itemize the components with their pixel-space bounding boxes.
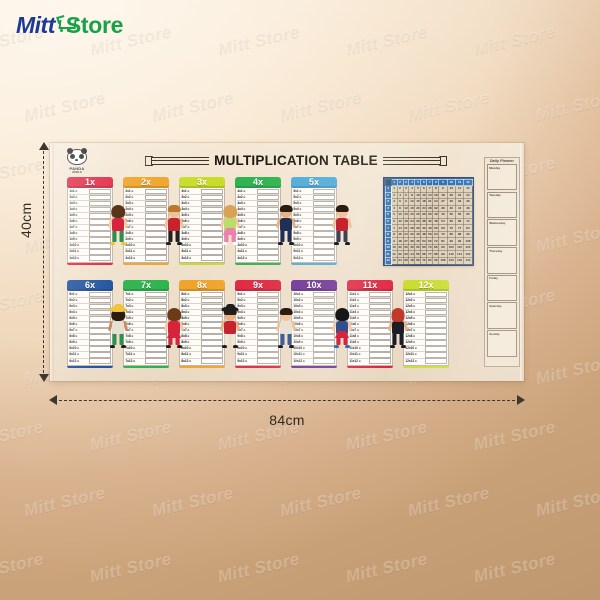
- equation-label: 5x9 =: [293, 237, 312, 242]
- equation-label: 9x12 =: [237, 359, 256, 364]
- equation-label: 1x4 =: [69, 207, 88, 212]
- blank-answer-box[interactable]: [425, 328, 446, 334]
- blank-answer-box[interactable]: [313, 352, 334, 358]
- planner-day-slot[interactable]: Tuesday: [487, 192, 517, 219]
- blank-answer-box[interactable]: [89, 249, 110, 255]
- equation-label: 6x9 =: [69, 340, 88, 345]
- blank-answer-box[interactable]: [145, 298, 166, 304]
- table-row: 1x12 =: [69, 256, 110, 261]
- equation-label: 1x8 =: [69, 231, 88, 236]
- equation-label: 11x3 =: [349, 304, 368, 309]
- equation-label: 3x6 =: [181, 219, 200, 224]
- equation-label: 5x3 =: [293, 201, 312, 206]
- equation-label: 10x4 =: [293, 310, 312, 315]
- equation-label: 4x1 =: [237, 189, 256, 194]
- planner-day-label: Sunday: [489, 332, 499, 336]
- planner-day-label: Saturday: [489, 304, 501, 308]
- equation-label: 11x9 =: [349, 340, 368, 345]
- equation-label: 3x2 =: [181, 195, 200, 200]
- equation-label: 7x3 =: [125, 304, 144, 309]
- blank-answer-box[interactable]: [257, 189, 278, 195]
- blank-answer-box[interactable]: [89, 195, 110, 201]
- table-row: 9x12 =: [237, 359, 278, 364]
- equation-label: 7x5 =: [125, 316, 144, 321]
- blank-answer-box[interactable]: [369, 292, 390, 298]
- equation-label: 12x11 =: [405, 352, 424, 357]
- blank-answer-box[interactable]: [89, 298, 110, 304]
- table-header-9: 9x: [235, 280, 281, 291]
- equation-label: 1x7 =: [69, 225, 88, 230]
- blank-answer-box[interactable]: [145, 195, 166, 201]
- equation-label: 9x7 =: [237, 328, 256, 333]
- equation-label: 8x4 =: [181, 310, 200, 315]
- equation-label: 5x11 =: [293, 249, 312, 254]
- table-header-7: 7x: [123, 280, 169, 291]
- table-footer: [291, 366, 337, 368]
- planner-day-slot[interactable]: Monday: [487, 164, 517, 191]
- equation-label: 2x12 =: [125, 256, 144, 261]
- times-table-12[interactable]: 12x12x1 =12x2 =12x3 =12x4 =12x5 =12x6 =1…: [403, 280, 449, 368]
- equation-label: 5x10 =: [293, 243, 312, 248]
- blank-answer-box[interactable]: [425, 358, 446, 364]
- width-dimension-line: 84cm: [50, 400, 524, 402]
- equation-label: 9x5 =: [237, 316, 256, 321]
- equation-label: 6x5 =: [69, 316, 88, 321]
- table-header-2: 2x: [123, 177, 169, 188]
- table-row: 8x12 =: [181, 359, 222, 364]
- table-header-6: 6x: [67, 280, 113, 291]
- equation-label: 8x7 =: [181, 328, 200, 333]
- equation-label: 8x9 =: [181, 340, 200, 345]
- equation-label: 5x2 =: [293, 195, 312, 200]
- blank-answer-box[interactable]: [257, 298, 278, 304]
- equation-label: 11x6 =: [349, 322, 368, 327]
- equation-label: 2x6 =: [125, 219, 144, 224]
- blank-answer-box[interactable]: [425, 322, 446, 328]
- table-footer: [235, 263, 281, 265]
- brand-name-mitt: Mitt: [16, 12, 55, 39]
- equation-label: 3x11 =: [181, 249, 200, 254]
- blank-answer-box[interactable]: [145, 352, 166, 358]
- equation-label: 11x4 =: [349, 310, 368, 315]
- equation-label: 4x6 =: [237, 219, 256, 224]
- planner-day-label: Thursday: [489, 249, 502, 253]
- table-header-11: 11x: [347, 280, 393, 291]
- equation-label: 8x5 =: [181, 316, 200, 321]
- equation-label: 10x9 =: [293, 340, 312, 345]
- equation-label: 11x1 =: [349, 292, 368, 297]
- equation-label: 7x6 =: [125, 322, 144, 327]
- equation-label: 2x1 =: [125, 189, 144, 194]
- blank-answer-box[interactable]: [201, 298, 222, 304]
- equation-label: 9x8 =: [237, 334, 256, 339]
- blank-answer-box[interactable]: [313, 255, 334, 261]
- equation-label: 10x8 =: [293, 334, 312, 339]
- shopping-cart-icon: [57, 16, 74, 32]
- blank-answer-box[interactable]: [89, 352, 110, 358]
- equation-label: 12x9 =: [405, 340, 424, 345]
- equation-label: 4x3 =: [237, 201, 256, 206]
- equation-label: 8x6 =: [181, 322, 200, 327]
- grid-cell: 120: [447, 257, 455, 264]
- equation-label: 1x6 =: [69, 219, 88, 224]
- table-row: 11x12 =: [349, 359, 390, 364]
- equation-label: 3x8 =: [181, 231, 200, 236]
- equation-label: 12x5 =: [405, 316, 424, 321]
- equation-label: 6x6 =: [69, 322, 88, 327]
- equation-label: 8x8 =: [181, 334, 200, 339]
- blank-answer-box[interactable]: [201, 292, 222, 298]
- blank-answer-box[interactable]: [201, 249, 222, 255]
- planner-day-slot[interactable]: Wednesday: [487, 219, 517, 246]
- blank-answer-box[interactable]: [145, 249, 166, 255]
- equation-label: 2x3 =: [125, 201, 144, 206]
- blank-answer-box[interactable]: [313, 189, 334, 195]
- blank-answer-box[interactable]: [201, 195, 222, 201]
- equation-label: 2x10 =: [125, 243, 144, 248]
- blank-answer-box[interactable]: [257, 249, 278, 255]
- equation-label: 1x11 =: [69, 249, 88, 254]
- equation-label: 8x10 =: [181, 346, 200, 351]
- equation-label: 11x7 =: [349, 328, 368, 333]
- equation-label: 7x10 =: [125, 346, 144, 351]
- height-dimension-line: [43, 143, 45, 381]
- equation-label: 12x10 =: [405, 346, 424, 351]
- equation-label: 12x7 =: [405, 328, 424, 333]
- blank-answer-box[interactable]: [201, 358, 222, 364]
- equation-label: 12x12 =: [405, 359, 424, 364]
- equation-label: 10x11 =: [293, 352, 312, 357]
- equation-label: 4x8 =: [237, 231, 256, 236]
- blank-answer-box[interactable]: [369, 352, 390, 358]
- table-row: 2x12 =: [125, 256, 166, 261]
- equation-label: 1x1 =: [69, 189, 88, 194]
- equation-label: 3x1 =: [181, 189, 200, 194]
- equation-label: 5x1 =: [293, 189, 312, 194]
- equation-label: 10x6 =: [293, 322, 312, 327]
- blank-answer-box[interactable]: [89, 292, 110, 298]
- kid-illustration: [331, 205, 353, 249]
- blank-answer-box[interactable]: [145, 189, 166, 195]
- planner-day-label: Tuesday: [489, 193, 501, 197]
- planner-day-slot[interactable]: Thursday: [487, 247, 517, 274]
- equation-label: 1x2 =: [69, 195, 88, 200]
- equation-label: 8x11 =: [181, 352, 200, 357]
- blank-answer-box[interactable]: [201, 352, 222, 358]
- multiplication-grid-12x12: 1234567891011121123456789101112224681012…: [383, 177, 474, 266]
- blank-answer-box[interactable]: [313, 249, 334, 255]
- table-footer: [67, 366, 113, 368]
- blank-answer-box[interactable]: [369, 358, 390, 364]
- equation-label: 5x5 =: [293, 213, 312, 218]
- equation-label: 3x7 =: [181, 225, 200, 230]
- equation-label: 2x2 =: [125, 195, 144, 200]
- equation-label: 7x11 =: [125, 352, 144, 357]
- equation-label: 3x10 =: [181, 243, 200, 248]
- equation-label: 8x12 =: [181, 359, 200, 364]
- blank-answer-box[interactable]: [313, 292, 334, 298]
- equation-label: 7x1 =: [125, 292, 144, 297]
- table-footer: [123, 366, 169, 368]
- equation-label: 10x3 =: [293, 304, 312, 309]
- equation-label: 11x10 =: [349, 346, 368, 351]
- equation-label: 7x12 =: [125, 359, 144, 364]
- table-row: 7x12 =: [125, 359, 166, 364]
- equation-label: 2x8 =: [125, 231, 144, 236]
- blank-answer-box[interactable]: [145, 255, 166, 261]
- equation-label: 1x9 =: [69, 237, 88, 242]
- equation-label: 3x12 =: [181, 256, 200, 261]
- daily-planner[interactable]: Daily Planner MondayTuesdayWednesdayThur…: [484, 157, 520, 367]
- table-footer: [403, 366, 449, 368]
- table-row: 10x12 =: [293, 359, 334, 364]
- table-header-10: 10x: [291, 280, 337, 291]
- equation-label: 12x2 =: [405, 298, 424, 303]
- table-row: 5x12 =: [293, 256, 334, 261]
- equation-label: 6x12 =: [69, 359, 88, 364]
- equation-label: 4x10 =: [237, 243, 256, 248]
- blank-answer-box[interactable]: [425, 304, 446, 310]
- planner-day-slot[interactable]: Sunday: [487, 330, 517, 357]
- equation-label: 3x3 =: [181, 201, 200, 206]
- equation-label: 7x2 =: [125, 298, 144, 303]
- equation-label: 2x9 =: [125, 237, 144, 242]
- blank-answer-box[interactable]: [257, 195, 278, 201]
- equation-label: 11x8 =: [349, 334, 368, 339]
- equation-label: 6x1 =: [69, 292, 88, 297]
- equation-label: 4x4 =: [237, 207, 256, 212]
- blank-answer-box[interactable]: [369, 298, 390, 304]
- equation-label: 6x11 =: [69, 352, 88, 357]
- equation-label: 9x2 =: [237, 298, 256, 303]
- equation-label: 3x9 =: [181, 237, 200, 242]
- equation-label: 1x3 =: [69, 201, 88, 206]
- equation-label: 12x1 =: [405, 292, 424, 297]
- width-dimension-label: 84cm: [50, 412, 524, 428]
- table-header-1: 1x: [67, 177, 113, 188]
- blank-answer-box[interactable]: [313, 358, 334, 364]
- blank-answer-box[interactable]: [313, 298, 334, 304]
- equation-label: 10x7 =: [293, 328, 312, 333]
- equation-label: 11x5 =: [349, 316, 368, 321]
- equation-label: 10x2 =: [293, 298, 312, 303]
- table-footer: [291, 263, 337, 265]
- equation-label: 11x12 =: [349, 359, 368, 364]
- blank-answer-box[interactable]: [201, 255, 222, 261]
- equation-label: 3x5 =: [181, 213, 200, 218]
- equation-label: 8x3 =: [181, 304, 200, 309]
- equation-label: 3x4 =: [181, 207, 200, 212]
- equation-label: 9x3 =: [237, 304, 256, 309]
- table-row: 12x12 =: [405, 359, 446, 364]
- equation-label: 11x2 =: [349, 298, 368, 303]
- planner-day-slot[interactable]: Friday: [487, 275, 517, 302]
- grid-cell: 132: [455, 257, 463, 264]
- equation-label: 6x8 =: [69, 334, 88, 339]
- table-header-8: 8x: [179, 280, 225, 291]
- equation-label: 8x2 =: [181, 298, 200, 303]
- equation-label: 4x9 =: [237, 237, 256, 242]
- blank-answer-box[interactable]: [145, 358, 166, 364]
- grid-cell: 144: [464, 257, 472, 264]
- table-footer: [179, 263, 225, 265]
- equation-label: 7x8 =: [125, 334, 144, 339]
- equation-label: 2x11 =: [125, 249, 144, 254]
- equation-label: 4x2 =: [237, 195, 256, 200]
- equation-label: 5x8 =: [293, 231, 312, 236]
- blank-answer-box[interactable]: [257, 352, 278, 358]
- multiplication-table-poster[interactable]: PANDA WORLD MULTIPLICATION TABLE 1x1x1 =…: [50, 143, 524, 381]
- equation-label: 9x9 =: [237, 340, 256, 345]
- equation-label: 10x5 =: [293, 316, 312, 321]
- blank-answer-box[interactable]: [89, 255, 110, 261]
- blank-answer-box[interactable]: [257, 358, 278, 364]
- grid-row: 121224364860728496108120132144: [385, 257, 472, 264]
- screenshot-stage: Mitt StoreMitt StoreMitt StoreMitt Store…: [0, 0, 600, 600]
- equation-label: 7x7 =: [125, 328, 144, 333]
- table-row: 4x12 =: [237, 256, 278, 261]
- table-footer: [123, 263, 169, 265]
- blank-answer-box[interactable]: [257, 292, 278, 298]
- equation-label: 6x2 =: [69, 298, 88, 303]
- equation-label: 1x5 =: [69, 213, 88, 218]
- equation-label: 5x4 =: [293, 207, 312, 212]
- grid-cell: 108: [439, 257, 447, 264]
- blank-answer-box[interactable]: [89, 358, 110, 364]
- equation-label: 6x4 =: [69, 310, 88, 315]
- table-footer: [347, 366, 393, 368]
- blank-answer-box[interactable]: [425, 346, 446, 352]
- blank-answer-box[interactable]: [425, 340, 446, 346]
- equation-label: 5x7 =: [293, 225, 312, 230]
- equation-label: 12x6 =: [405, 322, 424, 327]
- equation-label: 9x10 =: [237, 346, 256, 351]
- table-header-3: 3x: [179, 177, 225, 188]
- equation-label: 11x11 =: [349, 352, 368, 357]
- equation-label: 6x10 =: [69, 346, 88, 351]
- planner-day-label: Monday: [489, 166, 500, 170]
- equation-label: 7x9 =: [125, 340, 144, 345]
- equation-label: 4x11 =: [237, 249, 256, 254]
- equation-label: 1x12 =: [69, 256, 88, 261]
- equation-label: 5x6 =: [293, 219, 312, 224]
- planner-day-label: Wednesday: [489, 221, 505, 225]
- table-footer: [235, 366, 281, 368]
- blank-answer-box[interactable]: [313, 195, 334, 201]
- equation-label: 1x10 =: [69, 243, 88, 248]
- planner-day-slot[interactable]: Saturday: [487, 302, 517, 329]
- equation-label: 6x7 =: [69, 328, 88, 333]
- blank-answer-box[interactable]: [145, 292, 166, 298]
- equation-label: 9x4 =: [237, 310, 256, 315]
- equation-label: 2x5 =: [125, 213, 144, 218]
- equation-label: 7x4 =: [125, 310, 144, 315]
- table-footer: [67, 263, 113, 265]
- table-header-5: 5x: [291, 177, 337, 188]
- table-footer: [179, 366, 225, 368]
- equation-label: 2x7 =: [125, 225, 144, 230]
- equation-label: 6x3 =: [69, 304, 88, 309]
- equation-label: 10x10 =: [293, 346, 312, 351]
- blank-answer-box[interactable]: [425, 334, 446, 340]
- equation-label: 2x4 =: [125, 207, 144, 212]
- table-row: 6x12 =: [69, 359, 110, 364]
- equation-label: 10x12 =: [293, 359, 312, 364]
- blank-answer-box[interactable]: [201, 189, 222, 195]
- equation-label: 12x3 =: [405, 304, 424, 309]
- equation-label: 8x1 =: [181, 292, 200, 297]
- blank-answer-box[interactable]: [425, 292, 446, 298]
- blank-answer-box[interactable]: [425, 310, 446, 316]
- equation-label: 5x12 =: [293, 256, 312, 261]
- equation-label: 4x7 =: [237, 225, 256, 230]
- blank-answer-box[interactable]: [89, 189, 110, 195]
- equation-label: 4x5 =: [237, 213, 256, 218]
- blank-answer-box[interactable]: [257, 255, 278, 261]
- equation-label: 9x1 =: [237, 292, 256, 297]
- table-header-4: 4x: [235, 177, 281, 188]
- height-dimension-label: 40cm: [18, 203, 34, 238]
- equation-label: 12x8 =: [405, 334, 424, 339]
- equation-label: 4x12 =: [237, 256, 256, 261]
- equation-label: 12x4 =: [405, 310, 424, 315]
- planner-day-label: Friday: [489, 276, 498, 280]
- table-header-12: 12x: [403, 280, 449, 291]
- equation-label: 10x1 =: [293, 292, 312, 297]
- blank-answer-box[interactable]: [425, 298, 446, 304]
- blank-answer-box[interactable]: [425, 316, 446, 322]
- equation-label: 9x6 =: [237, 322, 256, 327]
- equation-label: 9x11 =: [237, 352, 256, 357]
- table-row: 3x12 =: [181, 256, 222, 261]
- blank-answer-box[interactable]: [425, 352, 446, 358]
- table-rows: 12x1 =12x2 =12x3 =12x4 =12x5 =12x6 =12x7…: [403, 291, 449, 366]
